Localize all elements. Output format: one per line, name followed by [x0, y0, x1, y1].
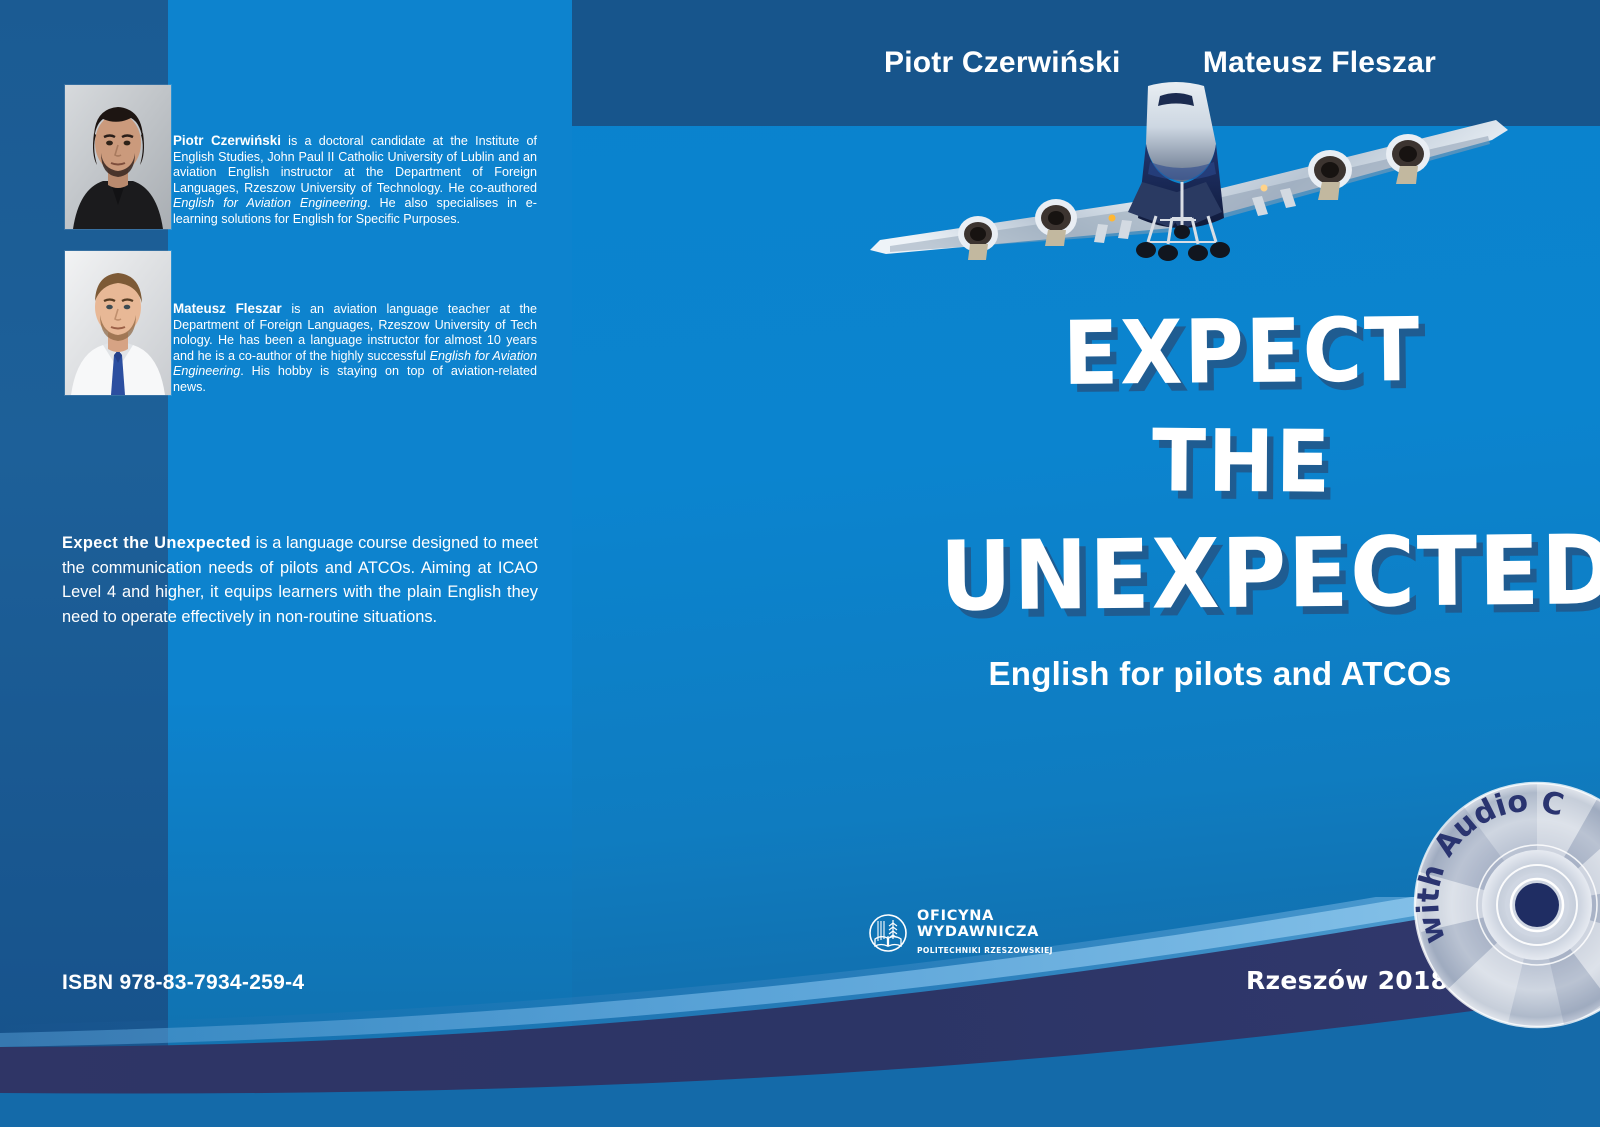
book-title: EXPECT THE UNEXPECTED — [920, 300, 1520, 640]
isbn-text: ISBN 978-83-7934-259-4 — [62, 971, 304, 995]
author-bio-mateusz-fleszar: Mateusz Fleszar is an aviation language … — [173, 301, 537, 396]
publisher-line-1: OFICYNA — [917, 908, 994, 924]
publisher-line-2: WYDAWNICZA — [917, 924, 1039, 940]
author-photo-piotr-czerwinski — [65, 85, 171, 229]
book-blurb: Expect the Unexpected is a language cour… — [62, 531, 538, 629]
book-subtitle: English for pilots and ATCOs — [920, 655, 1520, 693]
publisher-line-3: POLITECHNIKI RZESZOWSKIEJ — [917, 946, 1053, 955]
author-bio-piotr-czerwinski: Piotr Czerwiński is a doctoral candidate… — [173, 133, 537, 228]
author-names-row: Piotr Czerwiński Mateusz Fleszar — [572, 0, 1600, 126]
audio-cd-badge: with Audio CD — [1412, 780, 1600, 1030]
author-photo-mateusz-fleszar — [65, 251, 171, 395]
author-name-first: Piotr Czerwiński — [884, 46, 1121, 80]
publisher-logo: OFICYNA WYDAWNICZA POLITECHNIKI RZESZOWS… — [868, 908, 1053, 957]
title-line-2: THE — [966, 410, 1519, 514]
book-cover: Piotr Czerwiński Mateusz Fleszar — [0, 0, 1600, 1127]
author-name-second: Mateusz Fleszar — [1203, 46, 1436, 80]
open-book-wheat-emblem-icon — [868, 913, 908, 953]
title-line-3: UNEXPECTED — [940, 515, 1493, 632]
title-line-1: EXPECT — [966, 297, 1519, 406]
publisher-text: OFICYNA WYDAWNICZA POLITECHNIKI RZESZOWS… — [917, 908, 1053, 957]
